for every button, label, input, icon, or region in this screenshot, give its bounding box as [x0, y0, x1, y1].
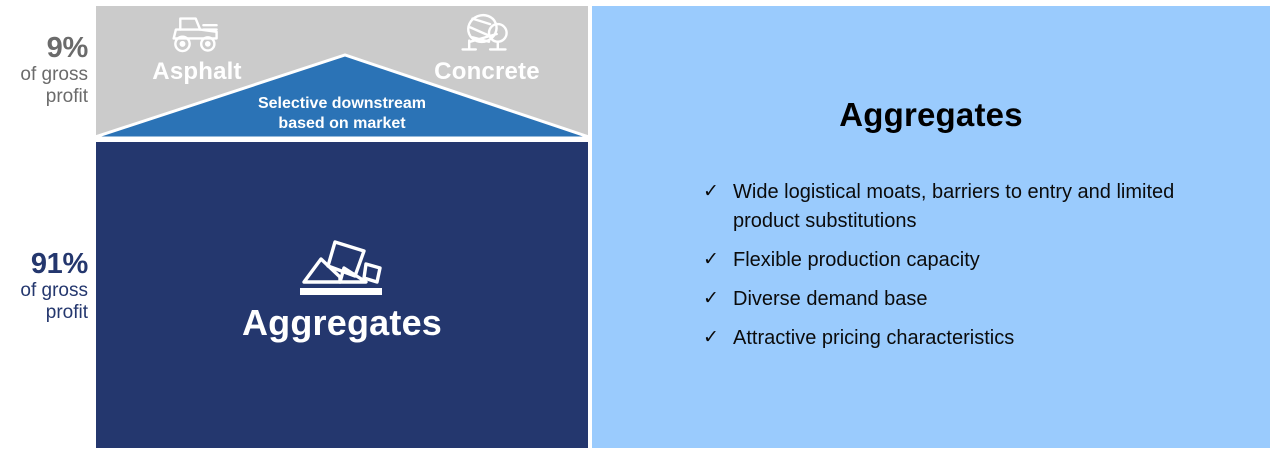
list-item: ✓ Wide logistical moats, barriers to ent…	[697, 178, 1217, 236]
gross-profit-line1: of gross	[0, 64, 88, 85]
check-icon: ✓	[703, 324, 719, 352]
gross-profit-label-asphalt-concrete: 9% of gross profit	[0, 32, 88, 107]
panel-title: Aggregates	[592, 96, 1270, 134]
concrete-mixer-icon	[456, 12, 518, 56]
wedge-caption-line1: Selective downstream	[258, 95, 426, 112]
wedge-caption-line2: based on market	[278, 115, 405, 132]
aggregates-icon-wrap	[96, 232, 588, 309]
aggregates-title: Aggregates	[96, 302, 588, 344]
gross-profit-line2: profit	[0, 86, 88, 107]
gross-profit-line2: profit	[0, 302, 88, 323]
gross-profit-percent: 9%	[0, 32, 88, 64]
list-item-text: Diverse demand base	[733, 288, 928, 310]
check-icon: ✓	[703, 246, 719, 274]
segment-label: Concrete	[402, 58, 572, 86]
list-item: ✓ Diverse demand base	[697, 285, 1217, 314]
gross-profit-percent: 91%	[0, 248, 88, 280]
wedge-caption: Selective downstream based on market	[96, 94, 588, 133]
segment-aggregates[interactable]: Aggregates	[96, 142, 588, 448]
check-icon: ✓	[703, 178, 719, 206]
list-item-text: Flexible production capacity	[733, 249, 980, 271]
gross-profit-line1: of gross	[0, 280, 88, 301]
list-item-text: Attractive pricing characteristics	[733, 327, 1014, 349]
gross-profit-label-aggregates: 91% of gross profit	[0, 248, 88, 323]
aggregates-detail-panel: Aggregates ✓ Wide logistical moats, barr…	[592, 6, 1270, 448]
aggregates-rock-pile-icon	[288, 232, 396, 304]
check-icon: ✓	[703, 285, 719, 313]
list-item-text: Wide logistical moats, barriers to entry…	[733, 181, 1174, 232]
slide-canvas: 9% of gross profit 91% of gross profit	[0, 0, 1270, 457]
segment-asphalt[interactable]: Asphalt	[112, 12, 282, 86]
tractor-paver-icon	[166, 12, 228, 56]
aggregates-benefits-list: ✓ Wide logistical moats, barriers to ent…	[697, 178, 1217, 363]
segment-concrete[interactable]: Concrete	[402, 12, 572, 86]
business-mix-diagram: Asphalt Concrete Selective downstream ba…	[96, 6, 588, 448]
segment-label: Asphalt	[112, 58, 282, 86]
downstream-band: Asphalt Concrete Selective downstream ba…	[96, 6, 588, 138]
list-item: ✓ Attractive pricing characteristics	[697, 324, 1217, 353]
list-item: ✓ Flexible production capacity	[697, 246, 1217, 275]
